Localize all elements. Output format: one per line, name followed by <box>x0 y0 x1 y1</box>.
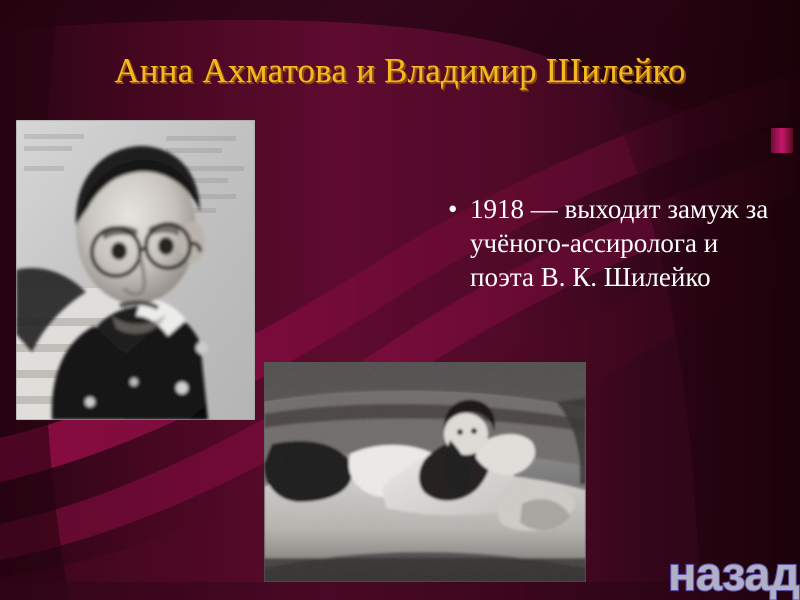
slide-body: • 1918 — выходит замуж за учёного-ассиро… <box>448 192 788 294</box>
back-button-label: назад <box>668 547 799 600</box>
back-navigation-button[interactable]: назад <box>664 543 800 600</box>
photo-akhmatova <box>264 362 586 582</box>
bullet-marker-icon: • <box>448 192 470 226</box>
photo-shileyko <box>16 120 255 420</box>
bullet-text: 1918 — выходит замуж за учёного-ассироло… <box>470 192 788 294</box>
bullet-list-item: • 1918 — выходит замуж за учёного-ассиро… <box>448 192 788 294</box>
presentation-slide: Анна Ахматова и Владимир Шилейко • 1918 … <box>0 0 800 600</box>
slide-title: Анна Ахматова и Владимир Шилейко <box>60 50 740 91</box>
